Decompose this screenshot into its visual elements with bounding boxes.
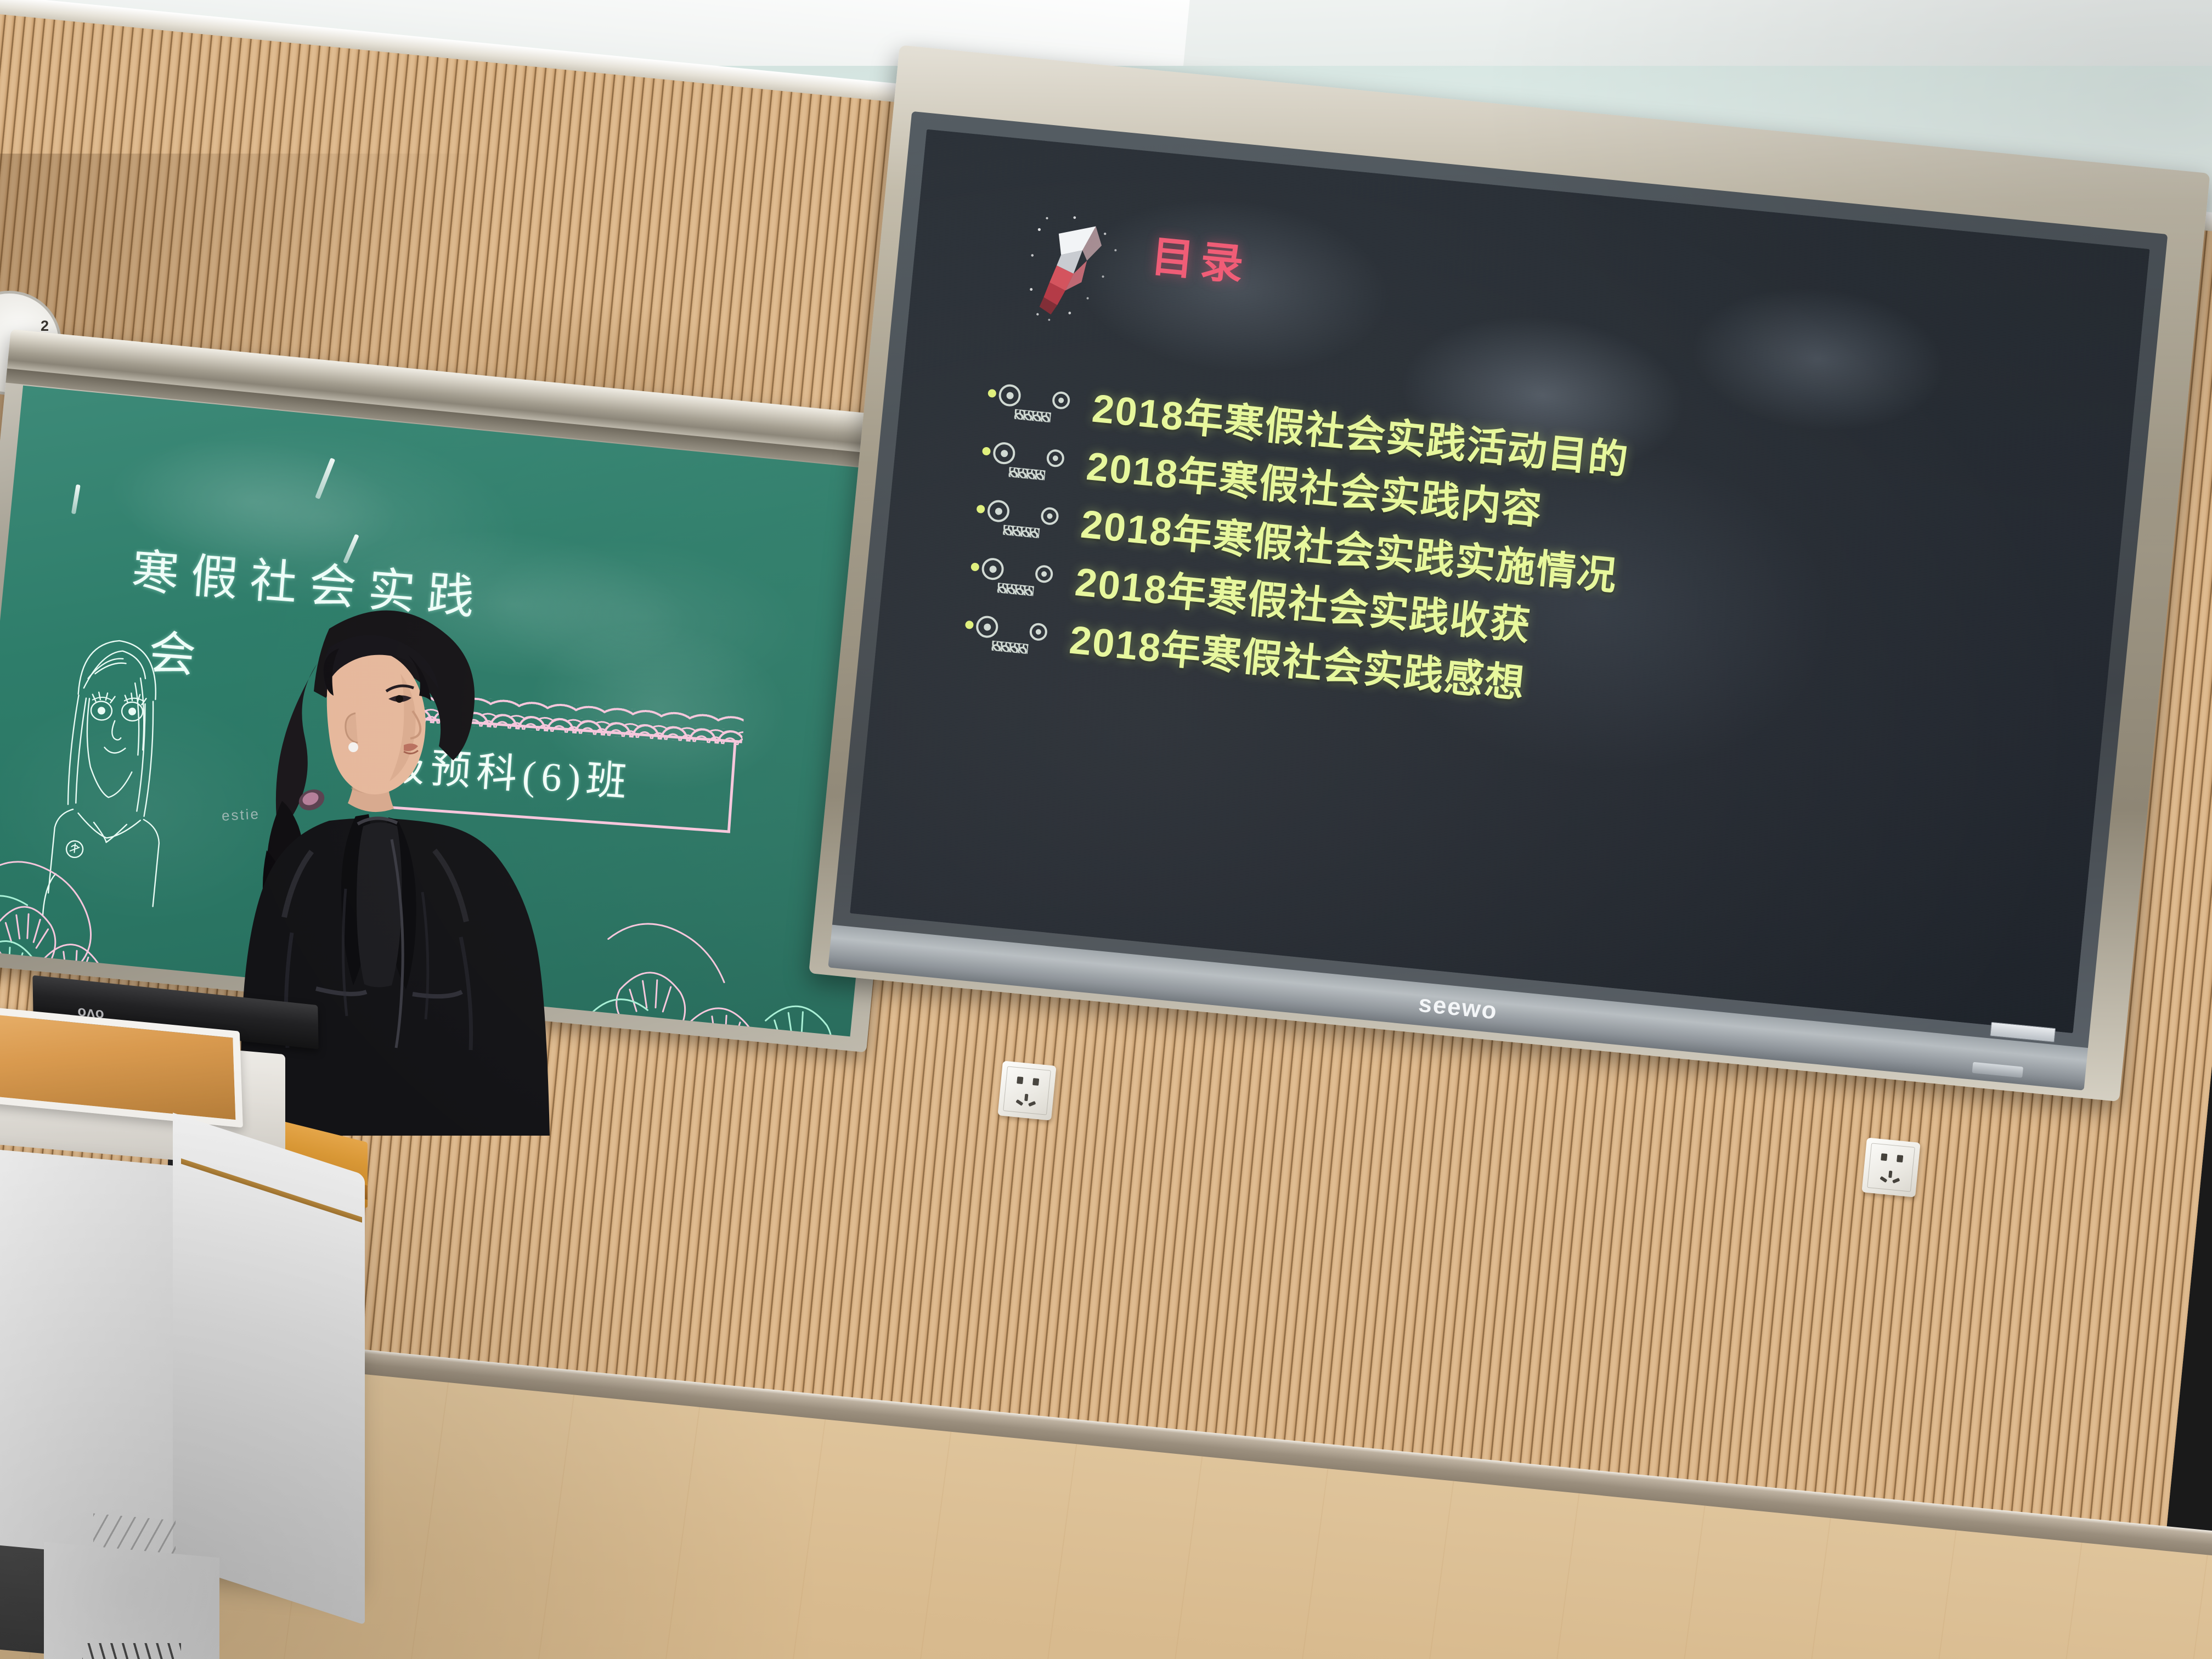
origami-paper-crane-icon [1016,204,1148,333]
interactive-flat-panel[interactable]: 目录 2018年寒假社会实践活动目的 20 [809,45,2210,1102]
seewo-brand-logo: seewo [1417,990,1499,1025]
cable-bundle [82,1643,181,1659]
outlet-tri-pins [1014,1093,1038,1109]
wall-outlet-left[interactable] [997,1060,1056,1120]
podium-base-column [44,1542,219,1659]
bullet-marker-icon [959,603,1073,657]
chalk-tick-mark [71,484,81,515]
wall-outlet-right[interactable] [1861,1137,1920,1197]
display-bezel: 目录 2018年寒假社会实践活动目的 20 [832,111,2168,1051]
slide-bullet-list: 2018年寒假社会实践活动目的 2018年寒假社会实践内容 [958,366,1915,747]
classroom-photo-scene: 2 3 4 [0,0,2212,1659]
podium-lower-dark-panel [0,1533,49,1654]
outlet-flat-pins [1017,1076,1039,1086]
bullet-marker-icon [981,372,1095,425]
chalk-tick-mark [315,458,335,499]
display-screen[interactable]: 目录 2018年寒假社会实践活动目的 20 [850,129,2149,1034]
bullet-marker-icon [964,546,1078,599]
bullet-marker-icon [976,430,1090,483]
outlet-flat-pins [1881,1153,1903,1163]
slide-title: 目录 [1149,222,1253,293]
shirt-print-text: estie [221,805,260,825]
bullet-marker-icon [970,488,1084,541]
outlet-tri-pins [1878,1170,1902,1186]
lectern-podium: ovo [0,1078,488,1659]
